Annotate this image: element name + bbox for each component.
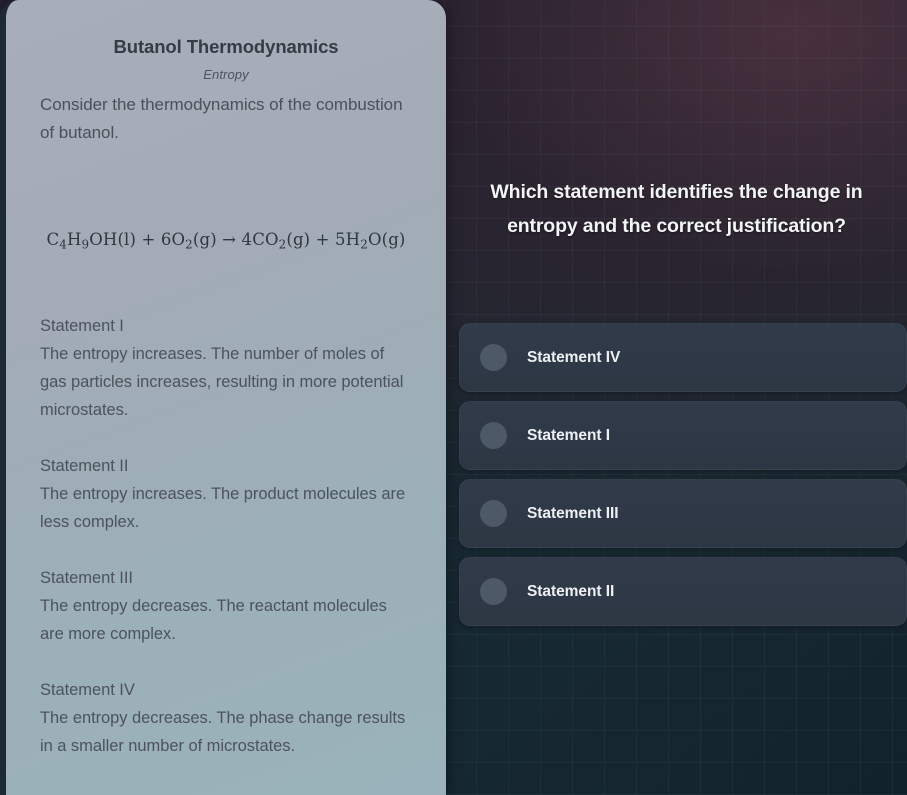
equation-seg-0: C [46, 230, 59, 249]
answer-option-label: Statement I [527, 427, 610, 445]
statement-body: The entropy increases. The product molec… [40, 480, 412, 536]
stimulus-content: Butanol Thermodynamics Entropy Consider … [6, 0, 446, 795]
equation-seg-1: H [67, 230, 82, 249]
stimulus-title: Butanol Thermodynamics [40, 36, 412, 58]
statement-block: Statement II The entropy increases. The … [40, 452, 412, 536]
radio-icon[interactable] [480, 422, 507, 449]
equation-seg-5: O(g) [368, 230, 406, 249]
statement-block: Statement III The entropy decreases. The… [40, 564, 412, 648]
statement-body: The entropy decreases. The phase change … [40, 704, 412, 760]
statement-body: The entropy increases. The number of mol… [40, 340, 412, 424]
answer-option-4[interactable]: Statement II [459, 557, 907, 626]
statement-block: Statement IV The entropy decreases. The … [40, 676, 412, 760]
equation-sub-0: 4 [59, 238, 67, 252]
stimulus-subtitle: Entropy [40, 67, 412, 82]
answer-option-label: Statement III [527, 505, 619, 523]
equation-sub-4: 2 [360, 238, 368, 252]
radio-icon[interactable] [480, 500, 507, 527]
answer-option-3[interactable]: Statement III [459, 479, 907, 548]
answer-option-list: Statement IV Statement I Statement III S… [459, 323, 907, 626]
stimulus-panel: Butanol Thermodynamics Entropy Consider … [0, 0, 446, 795]
question-area: Which statement identifies the change in… [446, 0, 907, 795]
radio-icon[interactable] [480, 344, 507, 371]
equation-seg-4: (g) + 5H [286, 230, 360, 249]
answer-option-1[interactable]: Statement IV [459, 323, 907, 392]
radio-icon[interactable] [480, 578, 507, 605]
answer-option-label: Statement II [527, 583, 614, 601]
stimulus-prompt: Consider the thermodynamics of the combu… [40, 91, 412, 146]
chemical-equation: C4H9OH(l) + 6O2(g) → 4CO2(g) + 5H2O(g) [40, 230, 412, 251]
equation-seg-3: (g) → 4CO [193, 230, 279, 249]
statement-label: Statement I [40, 312, 412, 340]
equation-seg-2: OH(l) + 6O [89, 230, 185, 249]
statement-label: Statement II [40, 452, 412, 480]
quiz-screen: Butanol Thermodynamics Entropy Consider … [0, 0, 907, 795]
answer-option-label: Statement IV [527, 349, 620, 367]
answer-option-2[interactable]: Statement I [459, 401, 907, 470]
equation-sub-2: 2 [185, 238, 193, 252]
statement-block: Statement I The entropy increases. The n… [40, 312, 412, 424]
statement-label: Statement III [40, 564, 412, 592]
statement-label: Statement IV [40, 676, 412, 704]
statement-body: The entropy decreases. The reactant mole… [40, 592, 412, 648]
question-prompt: Which statement identifies the change in… [460, 176, 893, 243]
statement-list: Statement I The entropy increases. The n… [40, 312, 412, 761]
